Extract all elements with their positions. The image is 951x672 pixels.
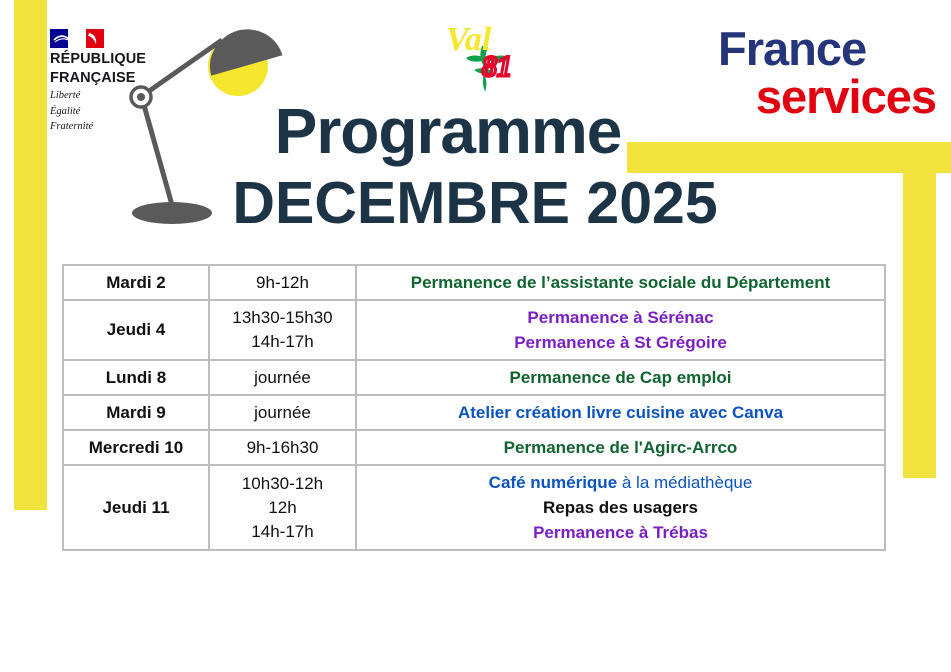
cell-day: Lundi 8 <box>63 360 209 395</box>
description-line: Repas des usagers <box>363 495 878 520</box>
cell-day: Mardi 9 <box>63 395 209 430</box>
description-text: Permanence de Cap emploi <box>509 368 731 387</box>
description-text: Repas des usagers <box>543 498 698 517</box>
cell-day: Jeudi 4 <box>63 300 209 360</box>
description-text: à la médiathèque <box>622 473 752 492</box>
description-line: Permanence de Cap emploi <box>363 365 878 390</box>
cell-day: Mercredi 10 <box>63 430 209 465</box>
description-text: Café numérique <box>489 473 622 492</box>
yellow-accent-left <box>14 0 47 510</box>
french-flag-marianne-icon <box>50 28 106 49</box>
time-line: 9h-12h <box>216 271 349 295</box>
title-line-programme: Programme <box>0 94 890 168</box>
time-line: 9h-16h30 <box>216 436 349 460</box>
france-services-line-1: France <box>706 26 936 72</box>
time-line: journée <box>216 401 349 425</box>
description-text: Permanence à Sérénac <box>527 308 713 327</box>
description-line: Permanence à Trébas <box>363 520 878 545</box>
cell-description: Permanence de l’assistante sociale du Dé… <box>356 265 885 300</box>
description-line: Café numérique à la médiathèque <box>363 470 878 495</box>
cell-time: journée <box>209 395 356 430</box>
title-line-month-year: DECEMBRE 2025 <box>0 168 890 238</box>
table-row: Jeudi 413h30-15h3014h-17hPermanence à Sé… <box>63 300 885 360</box>
cell-time: journée <box>209 360 356 395</box>
cell-description: Permanence de Cap emploi <box>356 360 885 395</box>
table-row: Mercredi 109h-16h30Permanence de l'Agirc… <box>63 430 885 465</box>
description-text: Permanence à Trébas <box>533 523 708 542</box>
cell-time: 13h30-15h3014h-17h <box>209 300 356 360</box>
time-line: 12h <box>216 496 349 520</box>
description-line: Permanence de l'Agirc-Arrco <box>363 435 878 460</box>
time-line: 13h30-15h30 <box>216 306 349 330</box>
cell-time: 9h-12h <box>209 265 356 300</box>
table-row: Jeudi 1110h30-12h12h14h-17hCafé numériqu… <box>63 465 885 550</box>
cell-time: 9h-16h30 <box>209 430 356 465</box>
description-line: Permanence à St Grégoire <box>363 330 878 355</box>
time-line: journée <box>216 366 349 390</box>
programme-table: Mardi 29h-12hPermanence de l’assistante … <box>62 264 886 551</box>
description-text: Permanence de l'Agirc-Arrco <box>504 438 738 457</box>
cell-day: Mardi 2 <box>63 265 209 300</box>
cell-description: Permanence à SérénacPermanence à St Grég… <box>356 300 885 360</box>
cell-description: Permanence de l'Agirc-Arrco <box>356 430 885 465</box>
table-row: Mardi 29h-12hPermanence de l’assistante … <box>63 265 885 300</box>
table-row: Lundi 8journéePermanence de Cap emploi <box>63 360 885 395</box>
description-text: Permanence à St Grégoire <box>514 333 727 352</box>
description-text: Permanence de l’assistante sociale du Dé… <box>411 273 831 292</box>
val81-logo: Val 81 <box>438 14 538 99</box>
cell-time: 10h30-12h12h14h-17h <box>209 465 356 550</box>
cell-day: Jeudi 11 <box>63 465 209 550</box>
val81-number: 81 <box>482 50 512 83</box>
description-line: Permanence de l’assistante sociale du Dé… <box>363 270 878 295</box>
description-text: Atelier création livre cuisine avec Canv… <box>458 403 783 422</box>
page-title: Programme DECEMBRE 2025 <box>0 94 890 238</box>
description-line: Atelier création livre cuisine avec Canv… <box>363 400 878 425</box>
description-line: Permanence à Sérénac <box>363 305 878 330</box>
cell-description: Café numérique à la médiathèqueRepas des… <box>356 465 885 550</box>
yellow-accent-right <box>903 142 936 478</box>
cell-description: Atelier création livre cuisine avec Canv… <box>356 395 885 430</box>
time-line: 14h-17h <box>216 330 349 354</box>
time-line: 10h30-12h <box>216 472 349 496</box>
time-line: 14h-17h <box>216 520 349 544</box>
table-row: Mardi 9journéeAtelier création livre cui… <box>63 395 885 430</box>
